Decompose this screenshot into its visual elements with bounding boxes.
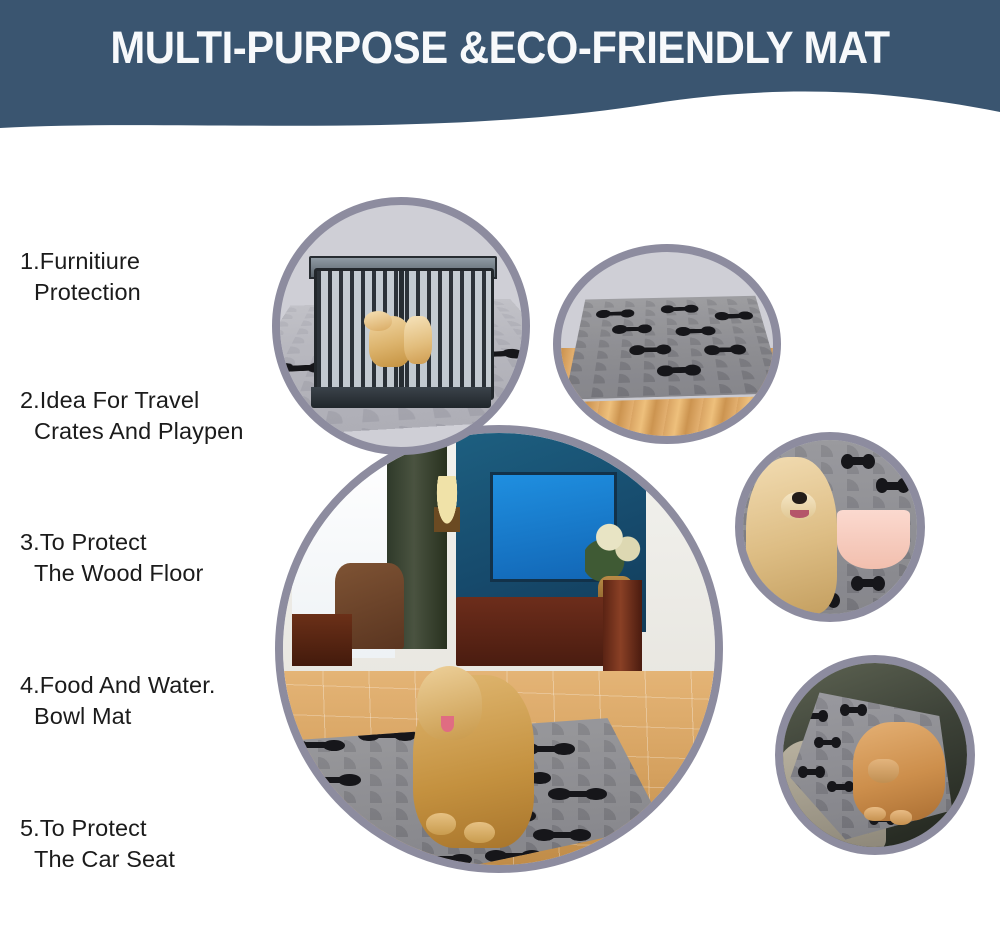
living-room-scene: [283, 433, 715, 865]
bone-print: [882, 482, 903, 490]
bone-print: [666, 367, 693, 373]
food-bowl-photo: [735, 432, 925, 622]
bone-print: [604, 311, 628, 316]
dog-crate-photo: [272, 197, 530, 455]
puppy-paw: [890, 810, 912, 825]
bone-print: [668, 307, 691, 312]
bone-print: [638, 347, 664, 353]
golden-retriever-tongue: [441, 716, 455, 732]
bone-print: [290, 808, 326, 814]
room-table-lamp: [434, 476, 460, 532]
mat-corner-scene: [561, 252, 773, 436]
mat-corner-wood-floor-photo: [553, 244, 781, 444]
food-bowl-scene: [743, 440, 917, 614]
car-seat-photo: [775, 655, 975, 855]
dog-crate-scene: [280, 205, 522, 447]
golden-retriever-paw: [426, 813, 456, 835]
golden-retriever-paw: [464, 822, 494, 844]
puppy-paw: [864, 807, 886, 822]
living-room-photo: [275, 425, 723, 873]
product-mat-corner: [565, 296, 773, 402]
bone-print: [684, 329, 709, 334]
bone-print: [712, 347, 738, 353]
puppy-snout: [868, 759, 899, 783]
car-seat-scene: [783, 663, 967, 847]
bone-print: [425, 856, 461, 862]
crate-base-tray: [311, 387, 490, 409]
kibble-food: [837, 489, 910, 531]
crate-dog-head: [364, 311, 392, 331]
bone-print: [298, 742, 334, 748]
crate-cage: [314, 268, 494, 400]
bone-print: [832, 784, 848, 790]
golden-retriever-body: [746, 457, 836, 614]
bone-print: [858, 579, 879, 587]
room-tv-console: [456, 597, 620, 666]
room-side-table: [292, 614, 352, 666]
page-title: MULTI-PURPOSE &ECO-FRIENDLY MAT: [35, 22, 965, 74]
bone-print: [803, 769, 819, 775]
bone-print: [313, 777, 349, 783]
header-banner: MULTI-PURPOSE &ECO-FRIENDLY MAT: [0, 0, 1000, 140]
bone-print: [560, 791, 596, 797]
bone-print: [620, 326, 645, 331]
bone-print: [845, 707, 861, 713]
bone-print: [722, 314, 746, 319]
room-flower-arrangement: [585, 506, 645, 584]
bone-print: [847, 457, 868, 465]
crate-dog-second: [404, 316, 432, 364]
bone-print: [544, 832, 580, 838]
photo-collage: [0, 140, 1000, 946]
bone-print: [820, 740, 836, 746]
bone-print: [345, 839, 381, 845]
